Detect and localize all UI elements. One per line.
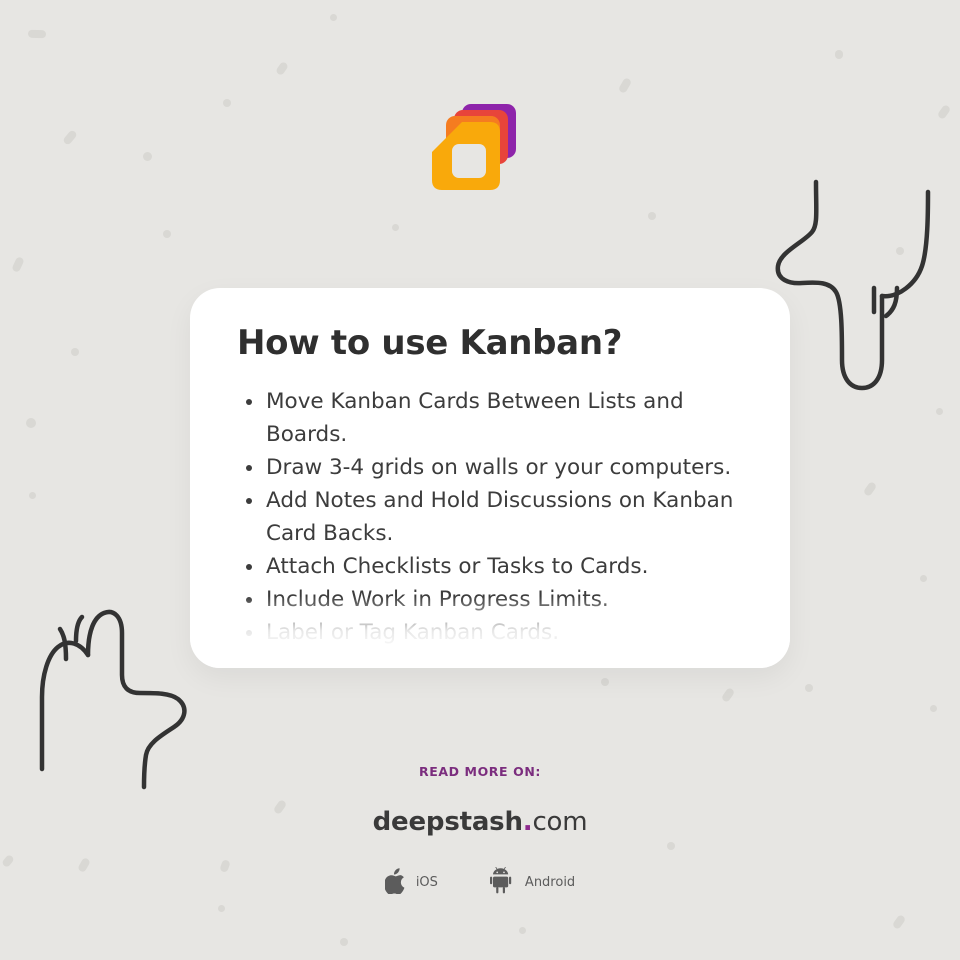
confetti-speck	[805, 684, 813, 692]
site-name-tld: com	[532, 807, 587, 837]
poster-canvas: How to use Kanban? Move Kanban Cards Bet…	[0, 0, 960, 960]
confetti-speck	[892, 914, 907, 930]
kanban-tips-list: Move Kanban Cards Between Lists and Boar…	[237, 385, 756, 649]
app-store-row: iOS Android	[0, 867, 960, 898]
page-title: How to use Kanban?	[237, 324, 756, 363]
list-item-text: Move Kanban Cards Between Lists and Boar…	[266, 389, 684, 447]
confetti-speck	[62, 129, 78, 146]
list-item-text: Attach Checklists or Tasks to Cards.	[266, 554, 648, 579]
bullet-icon	[246, 399, 252, 405]
android-store-link[interactable]: Android	[490, 867, 575, 898]
card-inner: How to use Kanban? Move Kanban Cards Bet…	[190, 288, 790, 649]
confetti-speck	[648, 212, 656, 220]
confetti-speck	[863, 481, 878, 497]
content-card: How to use Kanban? Move Kanban Cards Bet…	[190, 288, 790, 668]
bullet-icon	[246, 498, 252, 504]
confetti-speck	[920, 575, 927, 582]
confetti-speck	[930, 705, 937, 712]
confetti-speck	[223, 99, 231, 107]
site-name-brand: deepstash	[373, 807, 523, 837]
list-item-text: Label or Tag Kanban Cards.	[266, 620, 559, 645]
confetti-speck	[28, 30, 46, 39]
apple-icon	[385, 868, 407, 898]
list-item-text: Add Notes and Hold Discussions on Kanban…	[266, 488, 733, 546]
read-more-label: READ MORE ON:	[0, 764, 960, 779]
site-name[interactable]: deepstash.com	[0, 807, 960, 837]
bullet-icon	[246, 465, 252, 471]
list-item: Include Work in Progress Limits.	[237, 583, 756, 616]
confetti-speck	[601, 678, 609, 686]
confetti-speck	[835, 50, 843, 59]
list-item: Add Notes and Hold Discussions on Kanban…	[237, 484, 756, 550]
bullet-icon	[246, 630, 252, 636]
confetti-speck	[71, 348, 79, 356]
confetti-speck	[937, 104, 952, 120]
list-item: Label or Tag Kanban Cards.	[237, 616, 756, 649]
footer: READ MORE ON: deepstash.com iOS	[0, 764, 960, 898]
hand-pointing-up-illustration	[20, 555, 215, 790]
ios-store-label: iOS	[416, 875, 438, 890]
confetti-speck	[618, 77, 632, 94]
confetti-speck	[330, 14, 337, 21]
list-item-text: Include Work in Progress Limits.	[266, 587, 609, 612]
confetti-speck	[218, 905, 225, 912]
list-item: Move Kanban Cards Between Lists and Boar…	[237, 385, 756, 451]
confetti-speck	[340, 938, 348, 946]
android-icon	[490, 867, 516, 898]
site-name-dot: .	[523, 807, 533, 837]
bullet-icon	[246, 597, 252, 603]
confetti-speck	[721, 687, 736, 703]
list-item-text: Draw 3-4 grids on walls or your computer…	[266, 455, 731, 480]
confetti-speck	[936, 408, 943, 415]
confetti-speck	[392, 224, 399, 231]
confetti-speck	[26, 418, 36, 428]
list-item: Attach Checklists or Tasks to Cards.	[237, 550, 756, 583]
confetti-speck	[29, 492, 36, 499]
bullet-icon	[246, 564, 252, 570]
list-item: Draw 3-4 grids on walls or your computer…	[237, 451, 756, 484]
deepstash-logo	[424, 98, 524, 198]
confetti-speck	[519, 927, 526, 934]
android-store-label: Android	[525, 875, 575, 890]
confetti-speck	[275, 61, 289, 76]
ios-store-link[interactable]: iOS	[385, 868, 438, 898]
confetti-speck	[11, 256, 25, 273]
confetti-speck	[143, 152, 152, 161]
confetti-speck	[163, 230, 171, 238]
